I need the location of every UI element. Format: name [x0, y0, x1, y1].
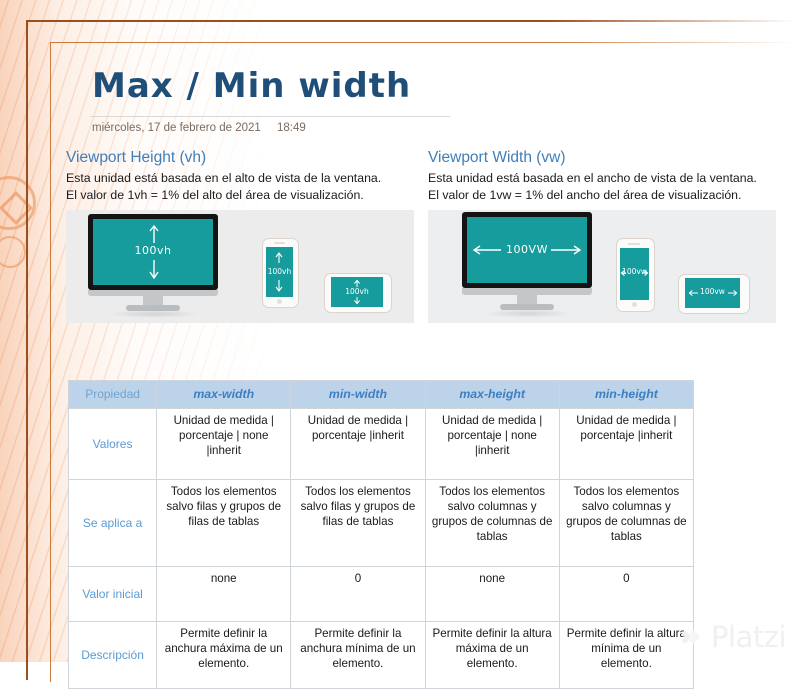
cell-aplica-max-height: Todos los elementos salvo columnas y gru…	[425, 480, 559, 567]
section-heading-vh: Viewport Height (vh)	[66, 148, 418, 168]
phone-label-vh: 100vh	[262, 267, 297, 276]
row-label-descripcion: Descripción	[69, 622, 157, 689]
decor-ring-small	[0, 236, 26, 268]
section-heading-vw: Viewport Width (vw)	[428, 148, 780, 168]
monitor-label-vw: 100VW	[488, 243, 566, 256]
tablet-label-vh: 100vh	[331, 287, 383, 296]
cell-desc-min-width: Permite definir la anchura mínima de un …	[291, 622, 425, 689]
cell-inicial-min-height: 0	[559, 567, 693, 622]
table-header-row: Propiedad max-width min-width max-height…	[69, 381, 694, 409]
phone-label-vw: 100vw	[620, 267, 649, 276]
properties-table: Propiedad max-width min-width max-height…	[68, 380, 694, 689]
section-line1-vh: Esta unidad está basada en el alto de vi…	[66, 170, 418, 187]
slide-date: miércoles, 17 de febrero de 2021	[92, 122, 277, 134]
table-header-max-height: max-height	[425, 381, 559, 409]
cell-aplica-min-width: Todos los elementos salvo filas y grupos…	[291, 480, 425, 567]
title-divider	[90, 116, 450, 117]
cell-inicial-max-height: none	[425, 567, 559, 622]
cell-valores-min-height: Unidad de medida | porcentaje |inherit	[559, 409, 693, 480]
viewport-height-devices-image: 100vh 100vh 100vh	[66, 210, 414, 323]
section-viewport-width: Viewport Width (vw) Esta unidad está bas…	[428, 148, 780, 203]
cell-inicial-min-width: 0	[291, 567, 425, 622]
row-label-valores: Valores	[69, 409, 157, 480]
cell-inicial-max-width: none	[157, 567, 291, 622]
tablet-label-vw: 100vw	[685, 287, 740, 296]
page-title: Max / Min width	[92, 66, 411, 106]
slide-time: 18:49	[277, 122, 306, 134]
decor-diamond	[0, 191, 33, 225]
table-row: Se aplica a Todos los elementos salvo fi…	[69, 480, 694, 567]
table-header-min-height: min-height	[559, 381, 693, 409]
section-line1-vw: Esta unidad está basada en el ancho de v…	[428, 170, 780, 187]
cell-aplica-min-height: Todos los elementos salvo columnas y gru…	[559, 480, 693, 567]
slide-content: Max / Min width miércoles, 17 de febrero…	[52, 44, 796, 662]
cell-desc-min-height: Permite definir la altura mínima de un e…	[559, 622, 693, 689]
row-label-se-aplica-a: Se aplica a	[69, 480, 157, 567]
cell-desc-max-width: Permite definir la anchura máxima de un …	[157, 622, 291, 689]
viewport-width-devices-image: 100VW 100vw 100vw	[428, 210, 776, 323]
slide-datestamp: miércoles, 17 de febrero de 202118:49	[92, 122, 492, 134]
cell-desc-max-height: Permite definir la altura máxima de un e…	[425, 622, 559, 689]
section-line2-vw: El valor de 1vw = 1% del ancho del área …	[428, 187, 780, 204]
decor-ring-large	[0, 176, 36, 230]
table-row: Valores Unidad de medida | porcentaje | …	[69, 409, 694, 480]
cell-valores-max-width: Unidad de medida | porcentaje | none |in…	[157, 409, 291, 480]
section-line2-vh: El valor de 1vh = 1% del alto del área d…	[66, 187, 418, 204]
table-header-min-width: min-width	[291, 381, 425, 409]
cell-aplica-max-width: Todos los elementos salvo filas y grupos…	[157, 480, 291, 567]
table-row: Descripción Permite definir la anchura m…	[69, 622, 694, 689]
row-label-valor-inicial: Valor inicial	[69, 567, 157, 622]
section-viewport-height: Viewport Height (vh) Esta unidad está ba…	[66, 148, 418, 203]
table-row: Valor inicial none 0 none 0	[69, 567, 694, 622]
table-header-propiedad: Propiedad	[69, 381, 157, 409]
table-header-max-width: max-width	[157, 381, 291, 409]
cell-valores-max-height: Unidad de medida | porcentaje | none |in…	[425, 409, 559, 480]
monitor-label-vh: 100vh	[114, 244, 192, 257]
cell-valores-min-width: Unidad de medida | porcentaje |inherit	[291, 409, 425, 480]
